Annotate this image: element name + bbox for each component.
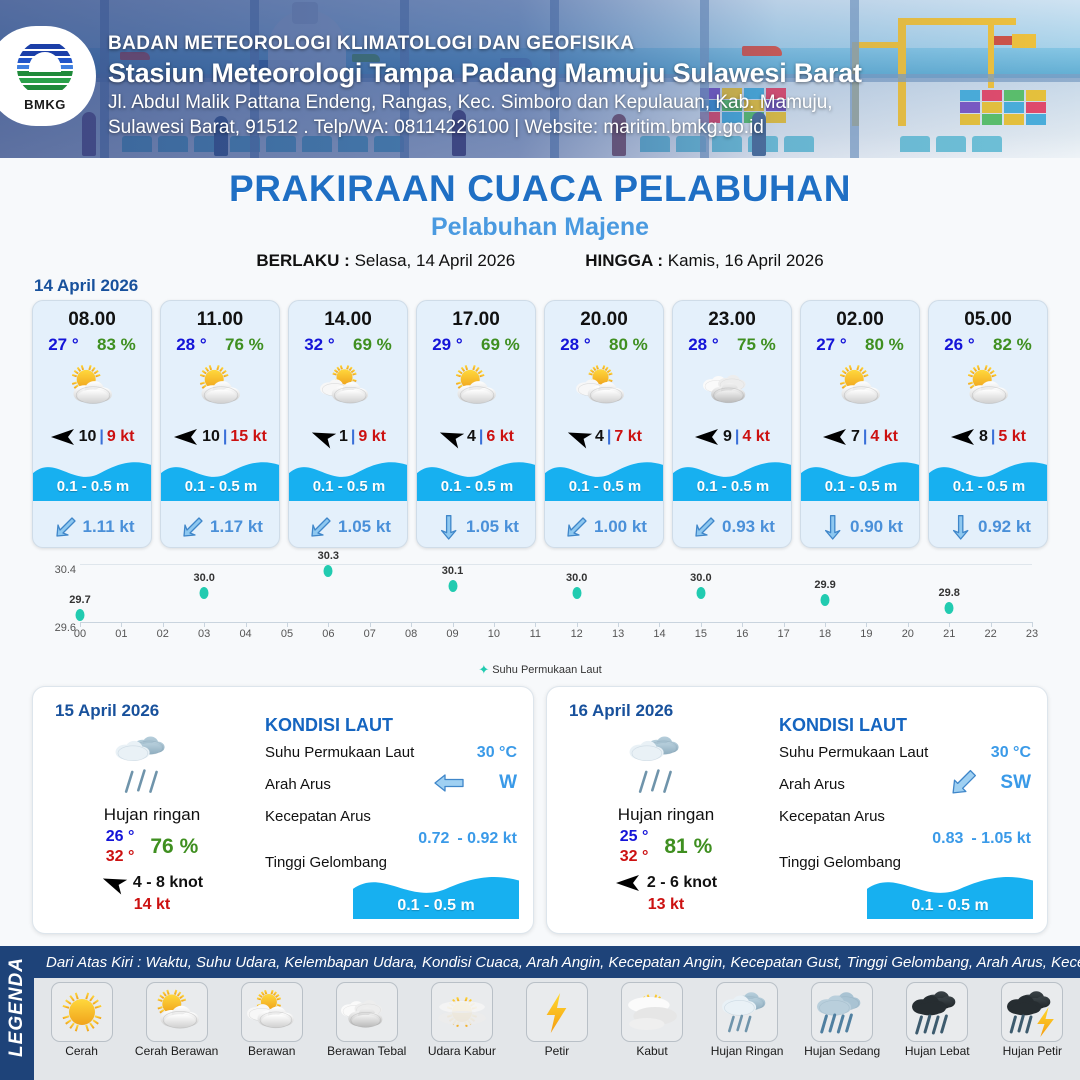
card-temperature: 27 °: [816, 335, 846, 355]
wind-direction-arrow-icon: [50, 427, 76, 447]
card-wind-speed: 9: [723, 428, 732, 446]
current-direction-value: W: [499, 772, 517, 794]
chart-x-tick: [494, 622, 495, 627]
card-separator: |: [223, 428, 227, 446]
daily-temp-min: 25 °: [620, 827, 649, 847]
chart-legend: ✦Suhu Permukaan Laut: [32, 662, 1048, 678]
current-direction-value: SW: [1000, 772, 1031, 794]
chart-point-label: 30.0: [690, 572, 711, 584]
daily-date: 16 April 2026: [569, 701, 673, 721]
legend-item: Berawan: [228, 982, 316, 1058]
card-humidity: 69 %: [481, 335, 520, 355]
current-speed-max: - 0.92 kt: [457, 830, 517, 848]
chart-data-point: [448, 580, 457, 592]
chart-x-tick-label: 21: [943, 628, 955, 640]
chart-data-point: [76, 609, 85, 621]
card-separator: |: [607, 428, 611, 446]
chart-x-tick: [577, 622, 578, 627]
daily-wind-range: 4 - 8 knot: [133, 874, 203, 892]
forecast-date-label: 14 April 2026: [34, 276, 138, 296]
cerah-berawan-icon: [929, 357, 1047, 419]
hujan-ringan-icon: [47, 727, 257, 803]
chart-x-tick-label: 16: [736, 628, 748, 640]
card-gust-speed: 5 kt: [998, 428, 1026, 446]
cerah-berawan-icon: [417, 357, 535, 419]
berawan-icon: [289, 357, 407, 419]
chart-y-tick-label: 30.4: [34, 564, 76, 576]
chart-x-tick: [784, 622, 785, 627]
legend-item-label: Hujan Petir: [988, 1045, 1076, 1058]
wind-direction-arrow-icon: [173, 427, 199, 447]
current-direction-arrow-icon: [947, 772, 979, 798]
chart-point-label: 30.3: [318, 550, 339, 562]
agency-name: BADAN METEOROLOGI KLIMATOLOGI DAN GEOFIS…: [108, 32, 1008, 56]
chart-point-label: 29.9: [814, 579, 835, 591]
legend-item: Udara Kabur: [418, 982, 506, 1058]
hujan-petir-icon: [1001, 982, 1063, 1042]
sst-label: Suhu Permukaan Laut: [265, 744, 414, 761]
legend-item-label: Kabut: [608, 1045, 696, 1058]
berawan-icon: [241, 982, 303, 1042]
cerah-berawan-icon: [33, 357, 151, 419]
card-wave-height: 0.1 - 0.5 m: [545, 471, 664, 501]
validity-row: BERLAKU : Selasa, 14 April 2026 HINGGA :…: [0, 251, 1080, 271]
card-humidity: 83 %: [97, 335, 136, 355]
legend-item-label: Berawan: [228, 1045, 316, 1058]
card-temperature: 28 °: [560, 335, 590, 355]
card-gust-speed: 6 kt: [486, 428, 514, 446]
daily-condition: Hujan ringan: [561, 805, 771, 825]
chart-x-tick-label: 12: [571, 628, 583, 640]
forecast-card: 17.00 29 ° 69 % 4 | 6 kt 0.1 - 0.5 m: [416, 300, 536, 548]
card-separator: |: [735, 428, 739, 446]
card-current-speed: 1.00 kt: [594, 517, 647, 537]
forecast-card: 05.00 26 ° 82 % 8 | 5 kt 0.1 - 0.5 m: [928, 300, 1048, 548]
card-wind-speed: 10: [79, 428, 97, 446]
chart-x-tick-label: 10: [488, 628, 500, 640]
card-gust-speed: 9 kt: [107, 428, 135, 446]
port-name: Pelabuhan Majene: [0, 213, 1080, 242]
legend-item-label: Hujan Sedang: [798, 1045, 886, 1058]
wind-direction-arrow-icon: [566, 427, 592, 447]
card-gust-speed: 7 kt: [614, 428, 642, 446]
wind-direction-arrow-icon: [310, 427, 336, 447]
chart-data-point: [324, 565, 333, 577]
card-time: 20.00: [545, 309, 663, 331]
daily-humidity: 76 %: [150, 835, 198, 859]
daily-temp-min: 26 °: [106, 827, 135, 847]
legend-section: LEGENDA Dari Atas Kiri : Waktu, Suhu Uda…: [0, 946, 1080, 1080]
current-direction-arrow-icon: [563, 515, 589, 539]
card-wave-height: 0.1 - 0.5 m: [417, 471, 536, 501]
legend-item-label: Udara Kabur: [418, 1045, 506, 1058]
chart-x-tick: [370, 622, 371, 627]
kabut-icon: [621, 982, 683, 1042]
sst-value: 30 °C: [991, 744, 1031, 762]
chart-point-label: 30.0: [566, 572, 587, 584]
legend-item: Kabut: [608, 982, 696, 1058]
legend-item: Cerah Berawan: [133, 982, 221, 1058]
chart-x-tick-label: 19: [860, 628, 872, 640]
daily-temp-max: 32 °: [106, 847, 135, 867]
card-separator: |: [479, 428, 483, 446]
chart-x-tick: [535, 622, 536, 627]
current-direction-arrow-icon: [52, 515, 78, 539]
card-separator: |: [99, 428, 103, 446]
card-temperature: 29 °: [432, 335, 462, 355]
page-header: BMKG BADAN METEOROLOGI KLIMATOLOGI DAN G…: [0, 0, 1080, 158]
chart-x-tick-label: 22: [984, 628, 996, 640]
card-time: 11.00: [161, 309, 279, 331]
chart-point-label: 29.8: [938, 587, 959, 599]
chart-x-tick-label: 15: [695, 628, 707, 640]
card-time: 23.00: [673, 309, 791, 331]
chart-x-tick: [949, 622, 950, 627]
chart-x-tick-label: 23: [1026, 628, 1038, 640]
chart-x-tick-label: 04: [239, 628, 251, 640]
wind-direction-arrow-icon: [950, 427, 976, 447]
current-direction-arrow-icon: [179, 515, 205, 539]
card-gust-speed: 4 kt: [870, 428, 898, 446]
card-wave-height: 0.1 - 0.5 m: [289, 471, 408, 501]
sea-condition-title: KONDISI LAUT: [779, 715, 1037, 736]
chart-x-tick: [246, 622, 247, 627]
legend-item: Hujan Sedang: [798, 982, 886, 1058]
daily-gust: 14 kt: [47, 896, 257, 914]
current-direction-arrow-icon: [307, 515, 333, 539]
petir-icon: [526, 982, 588, 1042]
chart-y-tick-label: 29.6: [34, 622, 76, 634]
address-line-2: Sulawesi Barat, 91512 . Telp/WA: 0811422…: [108, 115, 1008, 140]
sst-value: 30 °C: [477, 744, 517, 762]
current-direction-arrow-icon: [691, 515, 717, 539]
cerah-berawan-icon: [161, 357, 279, 419]
sst-chart: 30.429.629.730.030.330.130.030.029.929.8…: [32, 558, 1048, 680]
card-time: 05.00: [929, 309, 1047, 331]
title-block: PRAKIRAAN CUACA PELABUHAN Pelabuhan Maje…: [0, 168, 1080, 271]
legend-item-label: Cerah: [38, 1045, 126, 1058]
card-humidity: 82 %: [993, 335, 1032, 355]
hujan-lebat-icon: [906, 982, 968, 1042]
legend-item-label: Petir: [513, 1045, 601, 1058]
hourly-forecast-cards: 08.00 27 ° 83 % 10 | 9 kt 0.1 - 0.5 m: [32, 300, 1048, 548]
chart-x-tick-label: 08: [405, 628, 417, 640]
chart-x-tick-label: 13: [612, 628, 624, 640]
current-direction-arrow-icon: [433, 772, 465, 798]
current-direction-arrow-icon: [435, 515, 461, 539]
legend-side-title: LEGENDA: [6, 957, 28, 1057]
daily-forecast-panel: 15 April 2026 Hujan ringan: [32, 686, 534, 934]
forecast-card: 11.00 28 ° 76 % 10 | 15 kt 0.1 - 0.5 m: [160, 300, 280, 548]
forecast-card: 23.00 28 ° 75 % 9 |: [672, 300, 792, 548]
berawan-tebal-icon: [673, 357, 791, 419]
chart-x-tick: [411, 622, 412, 627]
daily-wave-height: 0.1 - 0.5 m: [353, 897, 519, 915]
card-current-speed: 0.90 kt: [850, 517, 903, 537]
card-temperature: 28 °: [688, 335, 718, 355]
berawan-icon: [545, 357, 663, 419]
legend-item: Hujan Lebat: [893, 982, 981, 1058]
chart-x-tick-label: 02: [157, 628, 169, 640]
sea-condition-title: KONDISI LAUT: [265, 715, 523, 736]
card-wave-height: 0.1 - 0.5 m: [801, 471, 920, 501]
current-direction-label: Arah Arus: [779, 776, 845, 793]
chart-point-label: 29.7: [69, 594, 90, 606]
card-temperature: 26 °: [944, 335, 974, 355]
chart-x-axis: [80, 622, 1032, 623]
card-temperature: 27 °: [48, 335, 78, 355]
card-temperature: 28 °: [176, 335, 206, 355]
station-name: Stasiun Meteorologi Tampa Padang Mamuju …: [108, 56, 1008, 90]
chart-legend-marker-icon: ✦: [478, 662, 489, 678]
chart-point-label: 30.1: [442, 565, 463, 577]
legend-item: Hujan Ringan: [703, 982, 791, 1058]
card-wave-height: 0.1 - 0.5 m: [161, 471, 280, 501]
chart-x-tick-label: 17: [778, 628, 790, 640]
legend-item-label: Berawan Tebal: [323, 1045, 411, 1058]
chart-data-point: [200, 587, 209, 599]
wind-direction-arrow-icon: [822, 427, 848, 447]
udara-kabur-icon: [431, 982, 493, 1042]
card-time: 14.00: [289, 309, 407, 331]
forecast-card: 02.00 27 ° 80 % 7 | 4 kt 0.1 - 0.5 m: [800, 300, 920, 548]
legend-item: Hujan Petir: [988, 982, 1076, 1058]
sst-label: Suhu Permukaan Laut: [779, 744, 928, 761]
card-wave-height: 0.1 - 0.5 m: [929, 471, 1048, 501]
chart-x-tick: [121, 622, 122, 627]
daily-forecast-panels: 15 April 2026 Hujan ringan: [32, 686, 1048, 934]
chart-x-tick-label: 09: [446, 628, 458, 640]
chart-x-tick-label: 07: [364, 628, 376, 640]
chart-data-point: [696, 587, 705, 599]
hujan-ringan-icon: [716, 982, 778, 1042]
valid-until-value: Kamis, 16 April 2026: [668, 251, 824, 270]
legend-item-label: Hujan Lebat: [893, 1045, 981, 1058]
valid-until-label: HINGGA :: [585, 251, 663, 270]
cerah-icon: [51, 982, 113, 1042]
daily-forecast-panel: 16 April 2026 Hujan ringan: [546, 686, 1048, 934]
chart-x-tick: [908, 622, 909, 627]
daily-wave-height: 0.1 - 0.5 m: [867, 897, 1033, 915]
page-title: PRAKIRAAN CUACA PELABUHAN: [0, 168, 1080, 210]
card-wind-speed: 4: [595, 428, 604, 446]
chart-x-tick: [825, 622, 826, 627]
current-speed-min: 0.72: [418, 830, 449, 848]
chart-x-tick: [991, 622, 992, 627]
daily-date: 15 April 2026: [55, 701, 159, 721]
card-humidity: 69 %: [353, 335, 392, 355]
chart-data-point: [821, 594, 830, 606]
current-speed-label: Kecepatan Arus: [779, 808, 885, 825]
wind-direction-arrow-icon: [438, 427, 464, 447]
chart-x-tick-label: 18: [819, 628, 831, 640]
forecast-card: 20.00 28 ° 80 % 4 | 7 kt: [544, 300, 664, 548]
chart-legend-label: Suhu Permukaan Laut: [492, 664, 601, 676]
card-wave-height: 0.1 - 0.5 m: [33, 471, 152, 501]
legend-item: Cerah: [38, 982, 126, 1058]
legend-item: Berawan Tebal: [323, 982, 411, 1058]
chart-x-tick: [866, 622, 867, 627]
berawan-tebal-icon: [336, 982, 398, 1042]
valid-from-label: BERLAKU :: [256, 251, 350, 270]
card-current-speed: 1.17 kt: [210, 517, 263, 537]
daily-temp-max: 32 °: [620, 847, 649, 867]
card-wave-height: 0.1 - 0.5 m: [673, 471, 792, 501]
hujan-ringan-icon: [561, 727, 771, 803]
chart-gridline: [80, 564, 1032, 565]
chart-x-tick-label: 03: [198, 628, 210, 640]
chart-x-tick-label: 05: [281, 628, 293, 640]
card-current-speed: 0.93 kt: [722, 517, 775, 537]
card-current-speed: 1.05 kt: [466, 517, 519, 537]
legend-items: Cerah Cerah Berawan: [34, 980, 1080, 1080]
card-gust-speed: 9 kt: [358, 428, 386, 446]
daily-wind-range: 2 - 6 knot: [647, 874, 717, 892]
card-humidity: 75 %: [737, 335, 776, 355]
current-speed-label: Kecepatan Arus: [265, 808, 371, 825]
daily-humidity: 81 %: [664, 835, 712, 859]
hujan-sedang-icon: [811, 982, 873, 1042]
card-temperature: 32 °: [304, 335, 334, 355]
chart-x-tick-label: 00: [74, 628, 86, 640]
daily-gust: 13 kt: [561, 896, 771, 914]
card-humidity: 76 %: [225, 335, 264, 355]
card-current-speed: 1.11 kt: [83, 517, 135, 537]
valid-from-value: Selasa, 14 April 2026: [355, 251, 516, 270]
chart-data-point: [572, 587, 581, 599]
valid-from: BERLAKU : Selasa, 14 April 2026: [256, 251, 515, 271]
chart-data-point: [945, 602, 954, 614]
card-time: 17.00: [417, 309, 535, 331]
current-direction-label: Arah Arus: [265, 776, 331, 793]
chart-x-tick-label: 06: [322, 628, 334, 640]
chart-x-tick-label: 01: [115, 628, 127, 640]
bmkg-logo-text: BMKG: [17, 97, 73, 112]
card-separator: |: [351, 428, 355, 446]
legend-item: Petir: [513, 982, 601, 1058]
current-speed-max: - 1.05 kt: [971, 830, 1031, 848]
card-wind-speed: 10: [202, 428, 220, 446]
current-direction-arrow-icon: [819, 515, 845, 539]
chart-x-tick: [1032, 622, 1033, 627]
legend-side-tab: LEGENDA: [0, 946, 34, 1080]
chart-x-tick: [618, 622, 619, 627]
card-humidity: 80 %: [609, 335, 648, 355]
chart-x-tick: [80, 622, 81, 627]
chart-x-tick: [742, 622, 743, 627]
forecast-card: 08.00 27 ° 83 % 10 | 9 kt 0.1 - 0.5 m: [32, 300, 152, 548]
cerah-berawan-icon: [146, 982, 208, 1042]
chart-x-tick: [701, 622, 702, 627]
chart-x-tick: [328, 622, 329, 627]
address-line-1: Jl. Abdul Malik Pattana Endeng, Rangas, …: [108, 90, 1008, 115]
chart-x-tick: [453, 622, 454, 627]
card-separator: |: [863, 428, 867, 446]
chart-plot-area: 30.429.629.730.030.330.130.030.029.929.8: [80, 564, 1032, 622]
chart-x-tick-label: 14: [653, 628, 665, 640]
card-gust-speed: 15 kt: [230, 428, 266, 446]
chart-x-tick-label: 11: [530, 628, 541, 640]
daily-condition: Hujan ringan: [47, 805, 257, 825]
bmkg-emblem-icon: [17, 40, 73, 96]
chart-x-tick: [204, 622, 205, 627]
wind-direction-arrow-icon: [615, 873, 641, 893]
chart-x-tick: [659, 622, 660, 627]
legend-item-label: Cerah Berawan: [133, 1045, 221, 1058]
card-current-speed: 0.92 kt: [978, 517, 1031, 537]
card-wind-speed: 8: [979, 428, 988, 446]
forecast-card: 14.00 32 ° 69 % 1 | 9 kt: [288, 300, 408, 548]
card-wind-speed: 7: [851, 428, 860, 446]
card-humidity: 80 %: [865, 335, 904, 355]
chart-x-tick-label: 20: [902, 628, 914, 640]
cerah-berawan-icon: [801, 357, 919, 419]
chart-x-tick: [287, 622, 288, 627]
card-wind-speed: 4: [467, 428, 476, 446]
bmkg-logo: BMKG: [0, 26, 96, 126]
chart-point-label: 30.0: [193, 572, 214, 584]
card-time: 08.00: [33, 309, 151, 331]
card-gust-speed: 4 kt: [742, 428, 770, 446]
card-time: 02.00: [801, 309, 919, 331]
header-text-block: BADAN METEOROLOGI KLIMATOLOGI DAN GEOFIS…: [108, 32, 1008, 140]
legend-note-bar: Dari Atas Kiri : Waktu, Suhu Udara, Kele…: [34, 946, 1080, 978]
current-speed-min: 0.83: [932, 830, 963, 848]
card-current-speed: 1.05 kt: [338, 517, 391, 537]
wind-direction-arrow-icon: [694, 427, 720, 447]
card-separator: |: [991, 428, 995, 446]
valid-until: HINGGA : Kamis, 16 April 2026: [585, 251, 823, 271]
wind-direction-arrow-icon: [101, 873, 127, 893]
chart-x-tick: [163, 622, 164, 627]
legend-item-label: Hujan Ringan: [703, 1045, 791, 1058]
card-wind-speed: 1: [339, 428, 348, 446]
current-direction-arrow-icon: [947, 515, 973, 539]
